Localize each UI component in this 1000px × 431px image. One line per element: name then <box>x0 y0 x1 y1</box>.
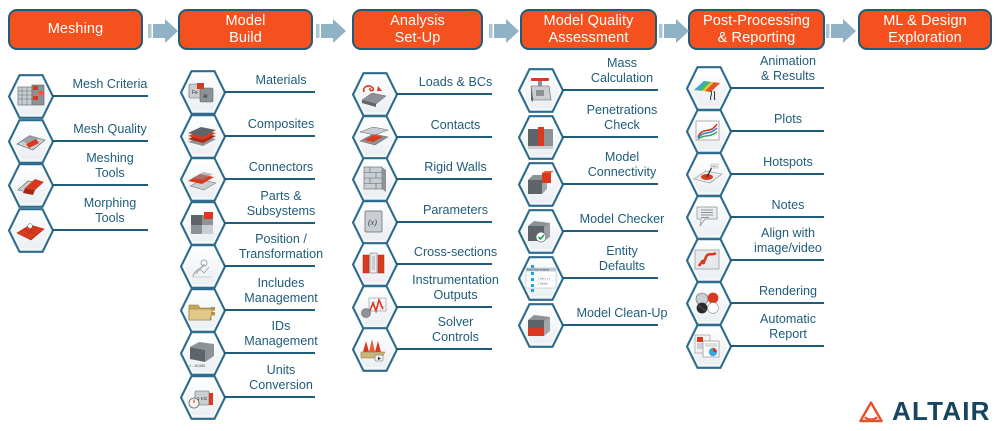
item-label-line: Mesh Quality <box>54 122 166 137</box>
item-underline <box>224 309 315 311</box>
svg-text:(x): (x) <box>368 218 377 227</box>
item-underline <box>224 352 315 354</box>
item-underline <box>562 230 658 232</box>
stage-label-model-quality: Model QualityAssessment <box>544 13 634 46</box>
stage-line: Assessment <box>544 30 634 47</box>
item-label-line: Management <box>226 334 336 349</box>
item-underline <box>730 130 824 132</box>
hex-solver-controls-icon <box>352 327 398 372</box>
hex-hotspots-icon: max <box>686 152 732 197</box>
svg-text:1 - 10,000: 1 - 10,000 <box>189 364 205 368</box>
hex-parts-subsystems-icon <box>180 201 226 246</box>
item-label: Composites <box>226 117 336 132</box>
item-label: Model Clean-Up <box>564 306 680 321</box>
item-underline <box>730 259 824 261</box>
stage-arrow-5 <box>826 16 856 46</box>
item-label: Hotspots <box>732 155 844 170</box>
hex-includes-management-icon <box>180 288 226 333</box>
svg-text:max: max <box>712 165 718 168</box>
item-label-line: Parts & <box>226 189 336 204</box>
hex-contacts-icon <box>352 115 398 160</box>
item-underline <box>224 135 315 137</box>
item-label-line: Model Checker <box>564 212 680 227</box>
hex-entity-defaults-icon: Entity Node Defaults1 Max x y z2 Handle <box>518 256 564 301</box>
item-label-line: Mesh Criteria <box>54 77 166 92</box>
stage-line: Exploration <box>883 30 967 47</box>
item-label-line: Outputs <box>398 288 513 303</box>
stage-label-meshing: Meshing <box>48 21 104 38</box>
item-label: Rendering <box>732 284 844 299</box>
stage-line: & Reporting <box>703 30 810 47</box>
item-label-line: Solver <box>398 315 513 330</box>
stage-line: Model Quality <box>544 13 634 30</box>
item-underline <box>396 178 492 180</box>
item-underline <box>224 91 315 93</box>
item-label-line: Instrumentation <box>398 273 513 288</box>
item-label: Rigid Walls <box>398 160 513 175</box>
item-label: Parts &Subsystems <box>226 189 336 218</box>
item-underline <box>562 277 658 279</box>
item-label-line: Meshing <box>54 151 166 166</box>
stage-arrow-3 <box>489 16 519 46</box>
item-label: EntityDefaults <box>564 244 680 273</box>
stage-line: Post-Processing <box>703 13 810 30</box>
item-label-line: Subsystems <box>226 204 336 219</box>
item-underline <box>396 93 492 95</box>
item-label-line: Plots <box>732 112 844 127</box>
stage-line: Analysis <box>390 13 445 30</box>
hex-rigid-walls-icon <box>352 157 398 202</box>
hex-mesh-criteria-icon <box>8 74 54 119</box>
hex-position-transformation-icon <box>180 244 226 289</box>
item-label-line: Connectors <box>226 160 336 175</box>
item-underline <box>730 173 824 175</box>
item-label-line: Composites <box>226 117 336 132</box>
workflow-diagram: MeshingModelBuildAnalysisSet-UpModel Qua… <box>0 0 1000 431</box>
item-label: PenetrationsCheck <box>564 103 680 132</box>
hex-parameters-icon: (x) <box>352 200 398 245</box>
hex-units-conversion-icon: 1 KG <box>180 375 226 420</box>
stage-arrow-1 <box>148 16 178 46</box>
item-label-line: IDs <box>226 319 336 334</box>
hex-loads-bcs-icon <box>352 72 398 117</box>
item-underline <box>52 140 148 142</box>
stage-line: Meshing <box>48 21 104 38</box>
stage-line: Build <box>226 30 266 47</box>
hex-model-checker-icon <box>518 209 564 254</box>
item-label-line: Morphing <box>54 196 166 211</box>
hex-morphing-tools-icon <box>8 208 54 253</box>
item-label: Notes <box>732 198 844 213</box>
hex-instrumentation-outputs-icon <box>352 285 398 330</box>
item-label: Align withimage/video <box>732 226 844 255</box>
item-label-line: Cross-sections <box>398 245 513 260</box>
item-label: AutomaticReport <box>732 312 844 341</box>
stage-box-meshing[interactable]: Meshing <box>8 9 143 50</box>
item-underline <box>52 229 148 231</box>
hex-align-image-video-icon <box>686 238 732 283</box>
hex-animation-results-icon <box>686 66 732 111</box>
hex-model-cleanup-icon <box>518 303 564 348</box>
hex-mass-calculation-icon <box>518 68 564 113</box>
item-label-line: Controls <box>398 330 513 345</box>
item-label-line: Penetrations <box>564 103 680 118</box>
item-underline <box>730 216 824 218</box>
hex-meshing-tools-icon <box>8 163 54 208</box>
item-label: Position /Transformation <box>226 232 336 261</box>
item-underline <box>396 263 492 265</box>
item-underline <box>730 87 824 89</box>
stage-box-analysis-setup[interactable]: AnalysisSet-Up <box>352 9 483 50</box>
item-underline <box>396 136 492 138</box>
item-label: UnitsConversion <box>226 363 336 392</box>
item-label-line: Notes <box>732 198 844 213</box>
item-label-line: Entity <box>564 244 680 259</box>
item-label: IDsManagement <box>226 319 336 348</box>
hex-rendering-icon <box>686 281 732 326</box>
stage-line: Set-Up <box>390 30 445 47</box>
item-label-line: Calculation <box>564 71 680 86</box>
item-underline <box>396 306 492 308</box>
item-label: Contacts <box>398 118 513 133</box>
altair-logo: ALTAIR <box>858 396 991 427</box>
item-label-line: Contacts <box>398 118 513 133</box>
item-underline <box>730 302 824 304</box>
hex-mesh-quality-icon <box>8 119 54 164</box>
item-underline <box>224 396 315 398</box>
item-label-line: Rendering <box>732 284 844 299</box>
hex-composites-icon <box>180 114 226 159</box>
item-label: Parameters <box>398 203 513 218</box>
item-underline <box>562 324 658 326</box>
item-underline <box>562 89 658 91</box>
item-label-line: Check <box>564 118 680 133</box>
hex-model-connectivity-icon <box>518 162 564 207</box>
item-underline <box>730 345 824 347</box>
item-label-line: Model Clean-Up <box>564 306 680 321</box>
item-underline <box>52 95 148 97</box>
item-underline <box>396 348 492 350</box>
item-label-line: Management <box>226 291 336 306</box>
item-underline <box>562 136 658 138</box>
item-label-line: Mass <box>564 56 680 71</box>
item-label-line: Report <box>732 327 844 342</box>
item-label-line: Connectivity <box>564 165 680 180</box>
stage-arrow-2 <box>316 16 346 46</box>
item-label-line: Materials <box>226 73 336 88</box>
hex-penetrations-check-icon <box>518 115 564 160</box>
item-label-line: Defaults <box>564 259 680 274</box>
item-label: IncludesManagement <box>226 276 336 305</box>
item-underline <box>224 222 315 224</box>
item-underline <box>224 265 315 267</box>
item-label: Model Checker <box>564 212 680 227</box>
item-underline <box>562 183 658 185</box>
svg-text:Fe: Fe <box>192 90 198 96</box>
item-underline <box>52 184 148 186</box>
item-label-line: Conversion <box>226 378 336 393</box>
item-label: Connectors <box>226 160 336 175</box>
item-label-line: Rigid Walls <box>398 160 513 175</box>
item-label: Loads & BCs <box>398 75 513 90</box>
item-label-line: Tools <box>54 166 166 181</box>
item-label: Plots <box>732 112 844 127</box>
hex-plots-icon <box>686 109 732 154</box>
item-label: Mesh Criteria <box>54 77 166 92</box>
stage-box-post-processing[interactable]: Post-Processing& Reporting <box>688 9 825 50</box>
stage-line: ML & Design <box>883 13 967 30</box>
item-label-line: image/video <box>732 241 844 256</box>
item-label: Cross-sections <box>398 245 513 260</box>
svg-text:1 Max x y z: 1 Max x y z <box>538 278 551 281</box>
altair-triangle-icon <box>858 400 884 424</box>
hex-ids-management-icon: 1 - 10,000 <box>180 331 226 376</box>
svg-text:Entity Node Defaults: Entity Node Defaults <box>527 269 550 272</box>
item-label-line: Includes <box>226 276 336 291</box>
item-label-line: Automatic <box>732 312 844 327</box>
item-label: MassCalculation <box>564 56 680 85</box>
stage-label-model-build: ModelBuild <box>226 13 266 46</box>
item-label: Materials <box>226 73 336 88</box>
item-label: SolverControls <box>398 315 513 344</box>
hex-automatic-report-icon <box>686 324 732 369</box>
svg-text:2 Handle: 2 Handle <box>538 283 548 286</box>
item-label: Animation& Results <box>732 54 844 83</box>
item-label-line: Transformation <box>226 247 336 262</box>
item-underline <box>224 178 315 180</box>
item-label-line: Position / <box>226 232 336 247</box>
item-underline <box>396 221 492 223</box>
item-label-line: Hotspots <box>732 155 844 170</box>
item-label-line: Units <box>226 363 336 378</box>
stage-label-ml-design: ML & DesignExploration <box>883 13 967 46</box>
stage-box-ml-design[interactable]: ML & DesignExploration <box>858 9 992 50</box>
stage-box-model-quality[interactable]: Model QualityAssessment <box>520 9 657 50</box>
item-label: InstrumentationOutputs <box>398 273 513 302</box>
hex-connectors-icon <box>180 157 226 202</box>
item-label-line: Loads & BCs <box>398 75 513 90</box>
item-label-line: Tools <box>54 211 166 226</box>
stage-label-post-processing: Post-Processing& Reporting <box>703 13 810 46</box>
item-label: Mesh Quality <box>54 122 166 137</box>
item-label-line: Animation <box>732 54 844 69</box>
item-label-line: Model <box>564 150 680 165</box>
item-label: ModelConnectivity <box>564 150 680 179</box>
item-label-line: & Results <box>732 69 844 84</box>
item-label-line: Align with <box>732 226 844 241</box>
hex-materials-icon: FeAl <box>180 70 226 115</box>
stage-box-model-build[interactable]: ModelBuild <box>178 9 313 50</box>
stage-label-analysis-setup: AnalysisSet-Up <box>390 13 445 46</box>
item-label: MorphingTools <box>54 196 166 225</box>
item-label-line: Parameters <box>398 203 513 218</box>
item-label: MeshingTools <box>54 151 166 180</box>
stage-arrow-4 <box>659 16 689 46</box>
altair-wordmark: ALTAIR <box>892 396 991 427</box>
svg-text:Al: Al <box>203 94 207 100</box>
hex-cross-sections-icon <box>352 242 398 287</box>
stage-line: Model <box>226 13 266 30</box>
hex-notes-icon <box>686 195 732 240</box>
